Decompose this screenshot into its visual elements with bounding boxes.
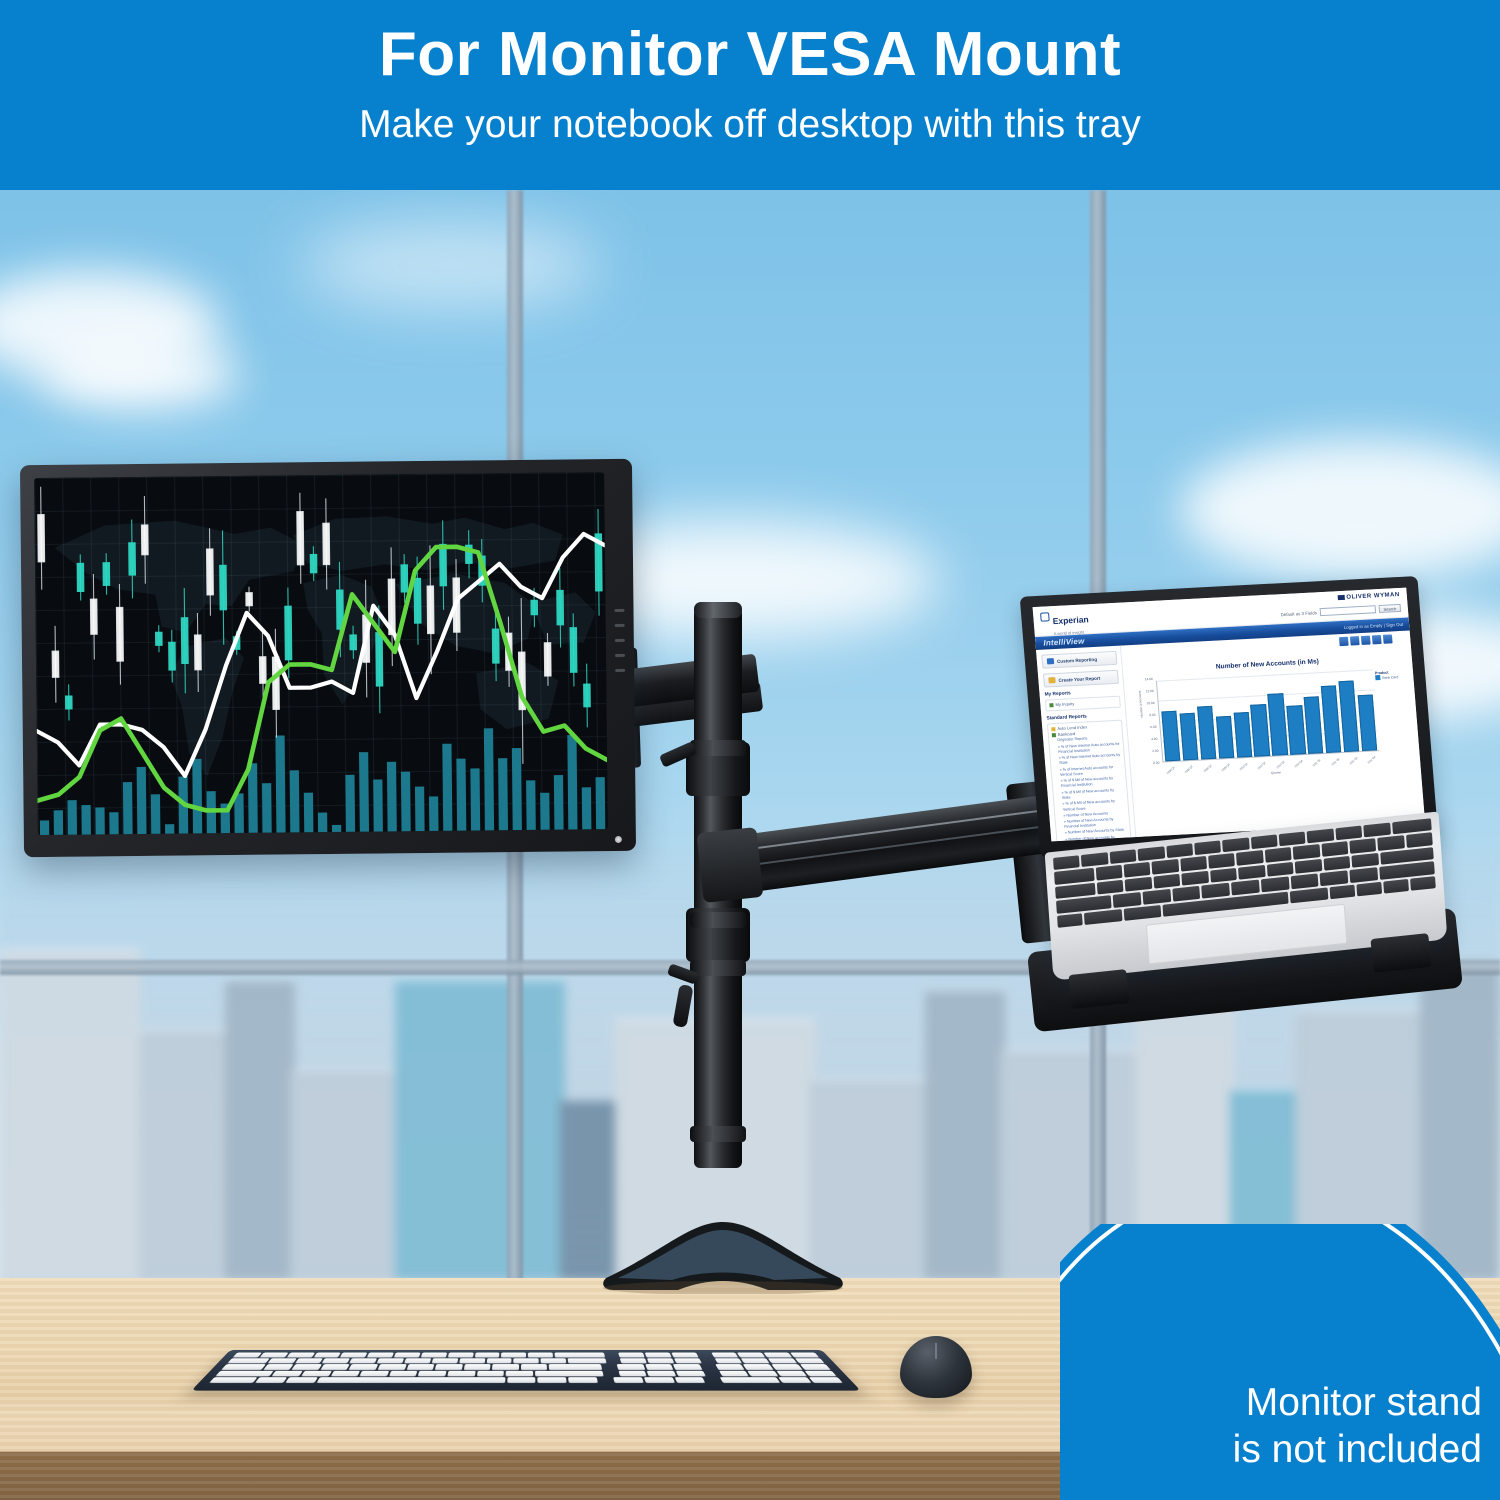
tray-front-lip [1068, 969, 1129, 1009]
report-icon [1051, 727, 1055, 731]
bar [1233, 712, 1252, 757]
sidebar-button-custom-reporting[interactable]: Custom Reporting [1041, 651, 1117, 669]
bar [1161, 711, 1180, 761]
keyboard-keys[interactable] [210, 1353, 843, 1383]
bar [1304, 697, 1324, 754]
print-icon[interactable] [1339, 637, 1349, 646]
trading-dashboard [34, 472, 608, 835]
experian-logo: Experian A world of insight [1040, 609, 1090, 636]
y-tick-label: 8.00 [1149, 713, 1156, 717]
y-tick-label: 12.00 [1146, 689, 1154, 693]
brand-name: Experian [1052, 614, 1089, 626]
app-title: IntelliView [1043, 637, 1085, 648]
cloud [300, 220, 600, 310]
search-input[interactable] [1320, 605, 1377, 616]
session-status[interactable]: Logged in as Empty | Sign Out [1343, 622, 1403, 630]
bar-series [1159, 670, 1377, 762]
bar [1216, 716, 1235, 759]
sidebar-button-label: Create Your Report [1058, 675, 1100, 682]
partner-mark-icon [1337, 595, 1344, 600]
export-icon[interactable] [1350, 636, 1360, 645]
pole-cap [694, 602, 742, 618]
banner-title: For Monitor VESA Mount [379, 22, 1121, 87]
bar [1179, 712, 1198, 760]
bar [1197, 706, 1217, 759]
partner-logo: OLIVER WYMAN [1337, 592, 1400, 601]
header-banner: For Monitor VESA Mount Make your noteboo… [0, 0, 1500, 190]
power-led-icon [615, 836, 622, 843]
laptop-lid: Experian A world of insight OLIVER WYMAN… [1020, 576, 1439, 858]
pole-ring [690, 740, 746, 756]
desktop-keyboard[interactable] [191, 1350, 860, 1391]
tray-front-lip [1370, 933, 1431, 973]
key-row[interactable] [227, 1358, 824, 1363]
report-icon [1052, 733, 1056, 737]
search-label: Default as 3 Fields [1280, 610, 1317, 617]
bar [1338, 681, 1359, 752]
page-body: Custom Reporting Create Your Report My R… [1036, 630, 1425, 841]
sidebar-tree-originator-reports: Originator Reports » % of New Internet A… [1052, 735, 1128, 841]
y-tick-label: 4.00 [1151, 737, 1158, 741]
search-button[interactable]: Search [1379, 604, 1402, 613]
key-row[interactable] [210, 1377, 843, 1382]
product-marketing-image: Experian A world of insight OLIVER WYMAN… [0, 0, 1500, 1500]
monitor-osd-buttons[interactable] [615, 609, 626, 672]
folder-icon [1048, 677, 1055, 683]
report-toolbar[interactable] [1339, 634, 1393, 646]
bar [1268, 693, 1288, 756]
candlestick-chart [34, 472, 608, 835]
pdf-icon[interactable] [1361, 636, 1371, 645]
pole-ring [690, 960, 746, 976]
search-area[interactable]: Default as 3 Fields Search [1280, 604, 1401, 618]
sidebar-item-my-inquiry[interactable]: My Inquiry [1049, 699, 1116, 709]
save-icon[interactable] [1383, 634, 1393, 643]
disclaimer-badge: Monitor stand is not included [1060, 1224, 1500, 1500]
monitor-screen [34, 472, 608, 835]
bar [1286, 705, 1305, 755]
plot-area [1156, 669, 1379, 762]
bar [1357, 695, 1377, 751]
y-tick-label: 10.00 [1146, 701, 1154, 705]
banner-subtitle: Make your notebook off desktop with this… [359, 103, 1141, 147]
bar [1250, 704, 1270, 757]
sidebar-group-standard-reports: Auto Lend Index Bankcard Originator Repo… [1047, 720, 1132, 842]
sidebar-tree-items[interactable]: » % of New Internet Auto accounts for Fi… [1058, 741, 1128, 841]
arm-joint [697, 827, 764, 903]
grid-icon [1047, 658, 1054, 664]
bar [1321, 686, 1342, 753]
pole-ring [690, 1126, 746, 1142]
badge-line-1: Monitor stand [1233, 1379, 1482, 1427]
experian-mark-icon [1040, 612, 1050, 621]
sidebar: Custom Reporting Create Your Report My R… [1036, 646, 1135, 842]
pole-ring [690, 912, 746, 928]
intelliview-page: Experian A world of insight OLIVER WYMAN… [1033, 588, 1425, 842]
report-icon [1049, 703, 1053, 707]
key-row[interactable] [216, 1371, 837, 1376]
y-tick-label: 0.00 [1153, 761, 1160, 765]
key-row[interactable] [233, 1353, 819, 1358]
laptop-screen: Experian A world of insight OLIVER WYMAN… [1033, 588, 1425, 842]
y-tick-label: 2.00 [1152, 749, 1159, 753]
sidebar-button-label: Custom Reporting [1057, 656, 1097, 663]
new-accounts-bar-chart: 14.0012.0010.008.006.004.002.000.00 Numb… [1134, 666, 1410, 776]
sidebar-button-create-your-report[interactable]: Create Your Report [1043, 670, 1119, 688]
y-tick-label: 14.00 [1145, 677, 1153, 681]
mail-icon[interactable] [1372, 635, 1382, 644]
chart-legend: Product Bank Card [1375, 670, 1404, 680]
badge-line-2: is not included [1233, 1426, 1482, 1474]
sidebar-group-my-reports: My Inquiry [1045, 696, 1121, 712]
report-main: Number of New Accounts (in Ms) 14.0012.0… [1120, 630, 1425, 837]
legend-swatch [1375, 675, 1380, 680]
monitor [20, 459, 636, 857]
y-tick-label: 6.00 [1150, 725, 1157, 729]
stand-base [588, 1218, 858, 1294]
badge-text: Monitor stand is not included [1233, 1379, 1482, 1474]
cloud [40, 340, 240, 410]
key-row[interactable] [222, 1364, 831, 1369]
legend-item: Bank Card [1375, 674, 1403, 680]
